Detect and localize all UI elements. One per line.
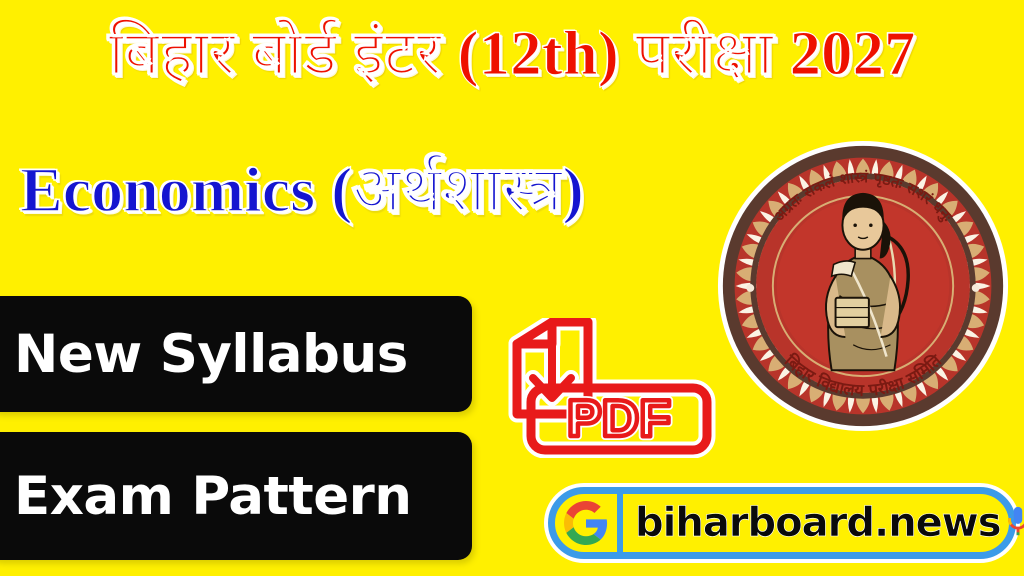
search-input[interactable]: biharboard.news	[623, 500, 1001, 546]
microphone-glyph	[1001, 504, 1024, 538]
banner-new-syllabus[interactable]: New Syllabus	[0, 296, 472, 412]
microphone-icon[interactable]	[1001, 504, 1024, 543]
banner-exam-pattern[interactable]: Exam Pattern	[0, 432, 472, 560]
poster-title-text: बिहार बोर्ड इंटर (12th) परीक्षा 2027	[108, 23, 916, 85]
google-g-icon	[555, 494, 617, 552]
poster-subject-text: Economics (अर्थशास्त्र)	[20, 158, 584, 222]
poster-canvas: बिहार बोर्ड इंटर (12th) परीक्षा 2027 Eco…	[0, 0, 1024, 576]
document-download-icon: PDF PDF	[476, 318, 720, 458]
google-search-bar[interactable]: biharboard.news	[548, 487, 1016, 559]
banner-new-syllabus-label: New Syllabus	[0, 324, 408, 385]
bseb-seal-graphic: अग्रतः सकलं शास्त्रं पृष्ठतः सशरं धनुः ब…	[716, 136, 1010, 436]
poster-subject: Economics (अर्थशास्त्र)	[20, 140, 710, 240]
pdf-label: PDF	[567, 390, 671, 448]
poster-title: बिहार बोर्ड इंटर (12th) परीक्षा 2027	[0, 4, 1024, 104]
bseb-seal: अग्रतः सकलं शास्त्रं पृष्ठतः सशरं धनुः ब…	[716, 136, 1010, 436]
banner-exam-pattern-label: Exam Pattern	[0, 466, 412, 527]
pdf-download-badge[interactable]: PDF PDF	[476, 318, 720, 458]
google-g-glyph	[564, 501, 608, 545]
